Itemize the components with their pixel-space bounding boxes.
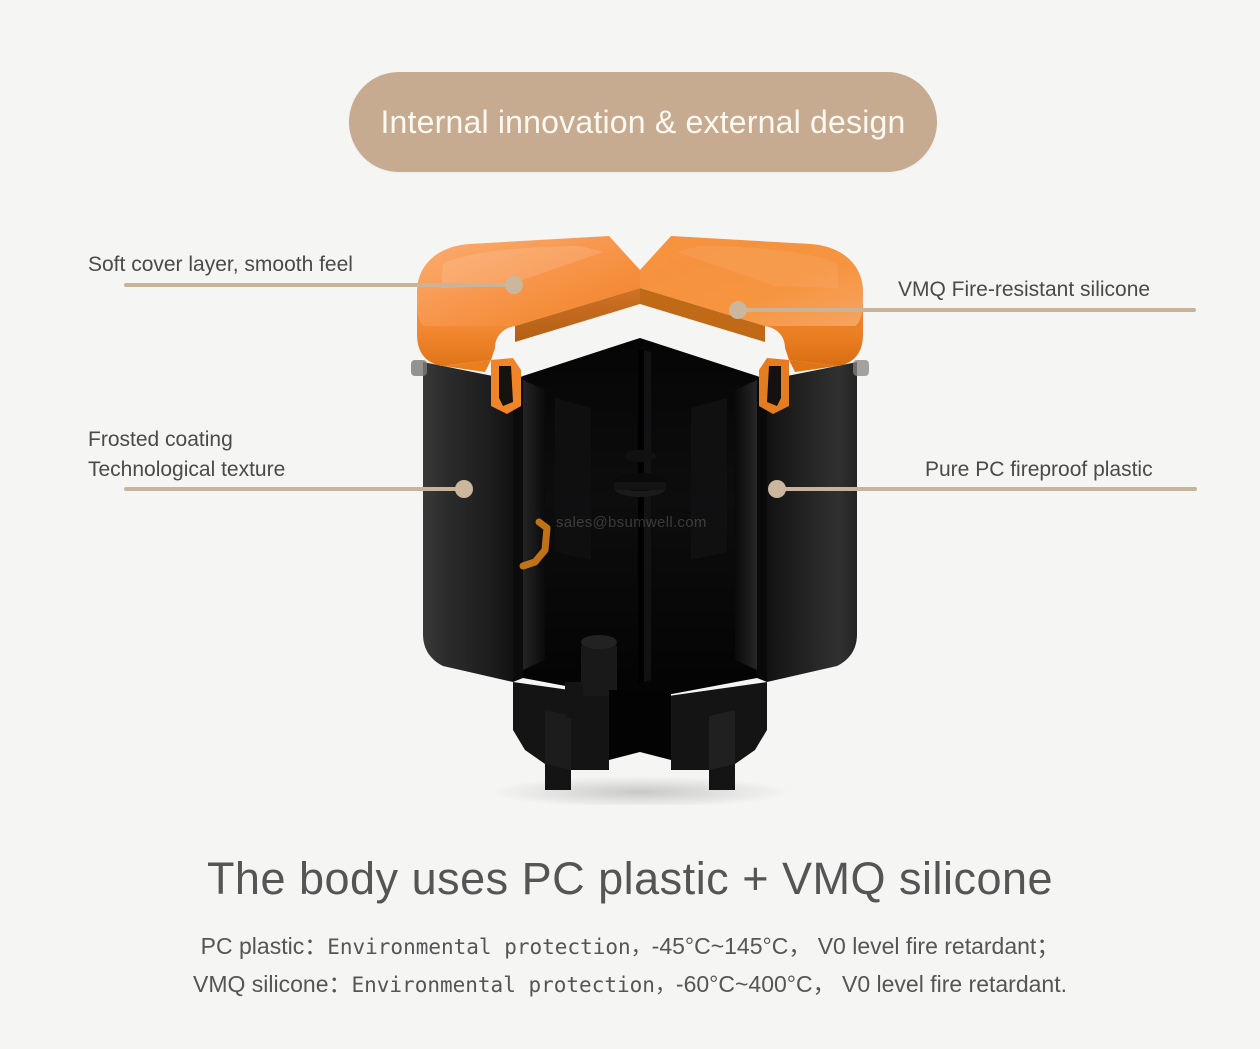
spec-line-pc-plastic: PC plastic：Environmental protection，-45°… xyxy=(0,928,1260,966)
callout-frosted-coating-line-2: Technological texture xyxy=(88,455,285,485)
callout-vmq-fire-resistant-silicone-line-1: VMQ Fire-resistant silicone xyxy=(898,275,1150,305)
spec-block: PC plastic：Environmental protection，-45°… xyxy=(0,928,1260,1004)
leader-line-vmq-fire-resistant-silicone xyxy=(737,308,1196,312)
callout-pure-pc-fireproof-plastic: Pure PC fireproof plastic xyxy=(925,455,1153,485)
infographic-page: Internal innovation & external design xyxy=(0,0,1260,1049)
callout-vmq-fire-resistant-silicone: VMQ Fire-resistant silicone xyxy=(898,275,1150,305)
leader-dot-pure-pc-fireproof-plastic xyxy=(768,480,786,498)
leader-line-frosted-coating xyxy=(124,487,464,491)
pc-plastic-body xyxy=(423,338,857,790)
header-badge: Internal innovation & external design xyxy=(349,72,937,172)
leader-dot-soft-cover-layer xyxy=(505,276,523,294)
leader-line-soft-cover-layer xyxy=(124,283,520,287)
callout-soft-cover-layer: Soft cover layer, smooth feel xyxy=(88,250,353,280)
callout-soft-cover-layer-line-1: Soft cover layer, smooth feel xyxy=(88,250,353,280)
spec-detail-rest-vmq-silicone: -60°C~400°C， V0 level fire retardant. xyxy=(676,971,1067,997)
callout-frosted-coating: Frosted coating Technological texture xyxy=(88,425,285,485)
leader-dot-vmq-fire-resistant-silicone xyxy=(729,301,747,319)
spec-line-vmq-silicone: VMQ silicone：Environmental protection，-6… xyxy=(0,966,1260,1004)
spec-detail-rest-pc-plastic: -45°C~145°C， V0 level fire retardant； xyxy=(652,933,1060,959)
header-badge-label: Internal innovation & external design xyxy=(380,104,905,141)
spec-material-pc-plastic: PC plastic： xyxy=(201,933,328,959)
leader-line-pure-pc-fireproof-plastic xyxy=(775,487,1197,491)
main-heading: The body uses PC plastic + VMQ silicone xyxy=(0,853,1260,905)
spec-detail-mono-vmq-silicone: Environmental protection， xyxy=(351,973,675,997)
callout-frosted-coating-line-1: Frosted coating xyxy=(88,425,285,455)
callout-pure-pc-fireproof-plastic-line-1: Pure PC fireproof plastic xyxy=(925,455,1153,485)
spec-material-vmq-silicone: VMQ silicone： xyxy=(193,971,351,997)
spec-detail-mono-pc-plastic: Environmental protection， xyxy=(327,935,651,959)
product-cutaway-render xyxy=(395,230,885,805)
leader-dot-frosted-coating xyxy=(455,480,473,498)
